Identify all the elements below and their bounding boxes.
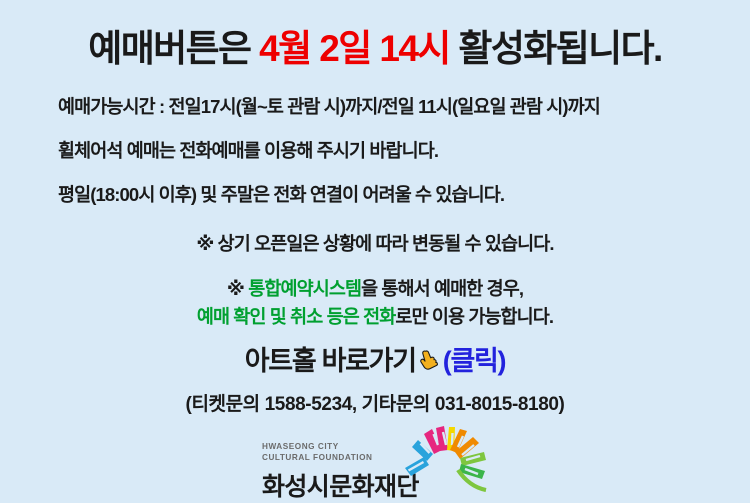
page-title: 예매버튼은 4월 2일 14시 활성화됩니다. [0, 26, 750, 72]
booking-hours-line: 예매가능시간 : 전일17시(월~토 관람 시)까지/전일 11시(일요일 관람… [58, 95, 718, 119]
notice-block: ※ 상기 오픈일은 상황에 따라 변동될 수 있습니다. ※ 통합예약시스템을 … [0, 232, 750, 329]
body-text-block: 예매가능시간 : 전일17시(월~토 관람 시)까지/전일 11시(일요일 관람… [58, 95, 718, 207]
headline-part-2: 활성화됩니다. [450, 28, 662, 69]
notice-cancel-rest: 로만 이용 가능합니다. [395, 306, 553, 327]
pointing-hand-icon [416, 348, 442, 381]
arthall-link-label: 아트홀 바로가기 [245, 346, 416, 376]
phone-availability-line: 평일(18:00시 이후) 및 주말은 전화 연결이 어려울 수 있습니다. [58, 183, 718, 207]
headline-part-1: 예매버튼은 [88, 28, 259, 69]
foundation-emblem-icon [402, 424, 488, 492]
notice-open-date-change: ※ 상기 오픈일은 상황에 따라 변동될 수 있습니다. [0, 232, 750, 256]
notice-integrated-system: ※ 통합예약시스템을 통해서 예매한 경우, [0, 277, 750, 301]
contact-numbers: (티켓문의 1588-5234, 기타문의 031-8015-8180) [0, 389, 750, 416]
arthall-link[interactable]: 아트홀 바로가기 (클릭) [0, 345, 750, 381]
notice-mark: ※ [227, 278, 248, 299]
logo-text-group: Hwaseong City Cultural Foundation 화성시문화재… [262, 442, 414, 503]
wheelchair-seat-line: 휠체어석 예매는 전화예매를 이용해 주시기 바랍니다. [58, 139, 718, 163]
notice-cancel-by-phone: 예매 확인 및 취소 등은 전화로만 이용 가능합니다. [0, 305, 750, 329]
foundation-logo: Hwaseong City Cultural Foundation 화성시문화재… [262, 424, 488, 494]
logo-korean-name: 화성시문화재단 [262, 467, 414, 503]
arthall-click-text: (클릭) [443, 346, 505, 376]
notice-cancel-green: 예매 확인 및 취소 등은 전화 [197, 306, 396, 327]
logo-english-line-1: Hwaseong City [262, 442, 414, 453]
logo-english-line-2: Cultural Foundation [262, 453, 414, 464]
notice-system-name: 통합예약시스템 [248, 278, 361, 299]
notice-system-rest: 을 통해서 예매한 경우, [361, 278, 523, 299]
notice-poster: 예매버튼은 4월 2일 14시 활성화됩니다. 예매가능시간 : 전일17시(월… [0, 0, 750, 500]
headline-highlight-datetime: 4월 2일 14시 [259, 28, 450, 69]
